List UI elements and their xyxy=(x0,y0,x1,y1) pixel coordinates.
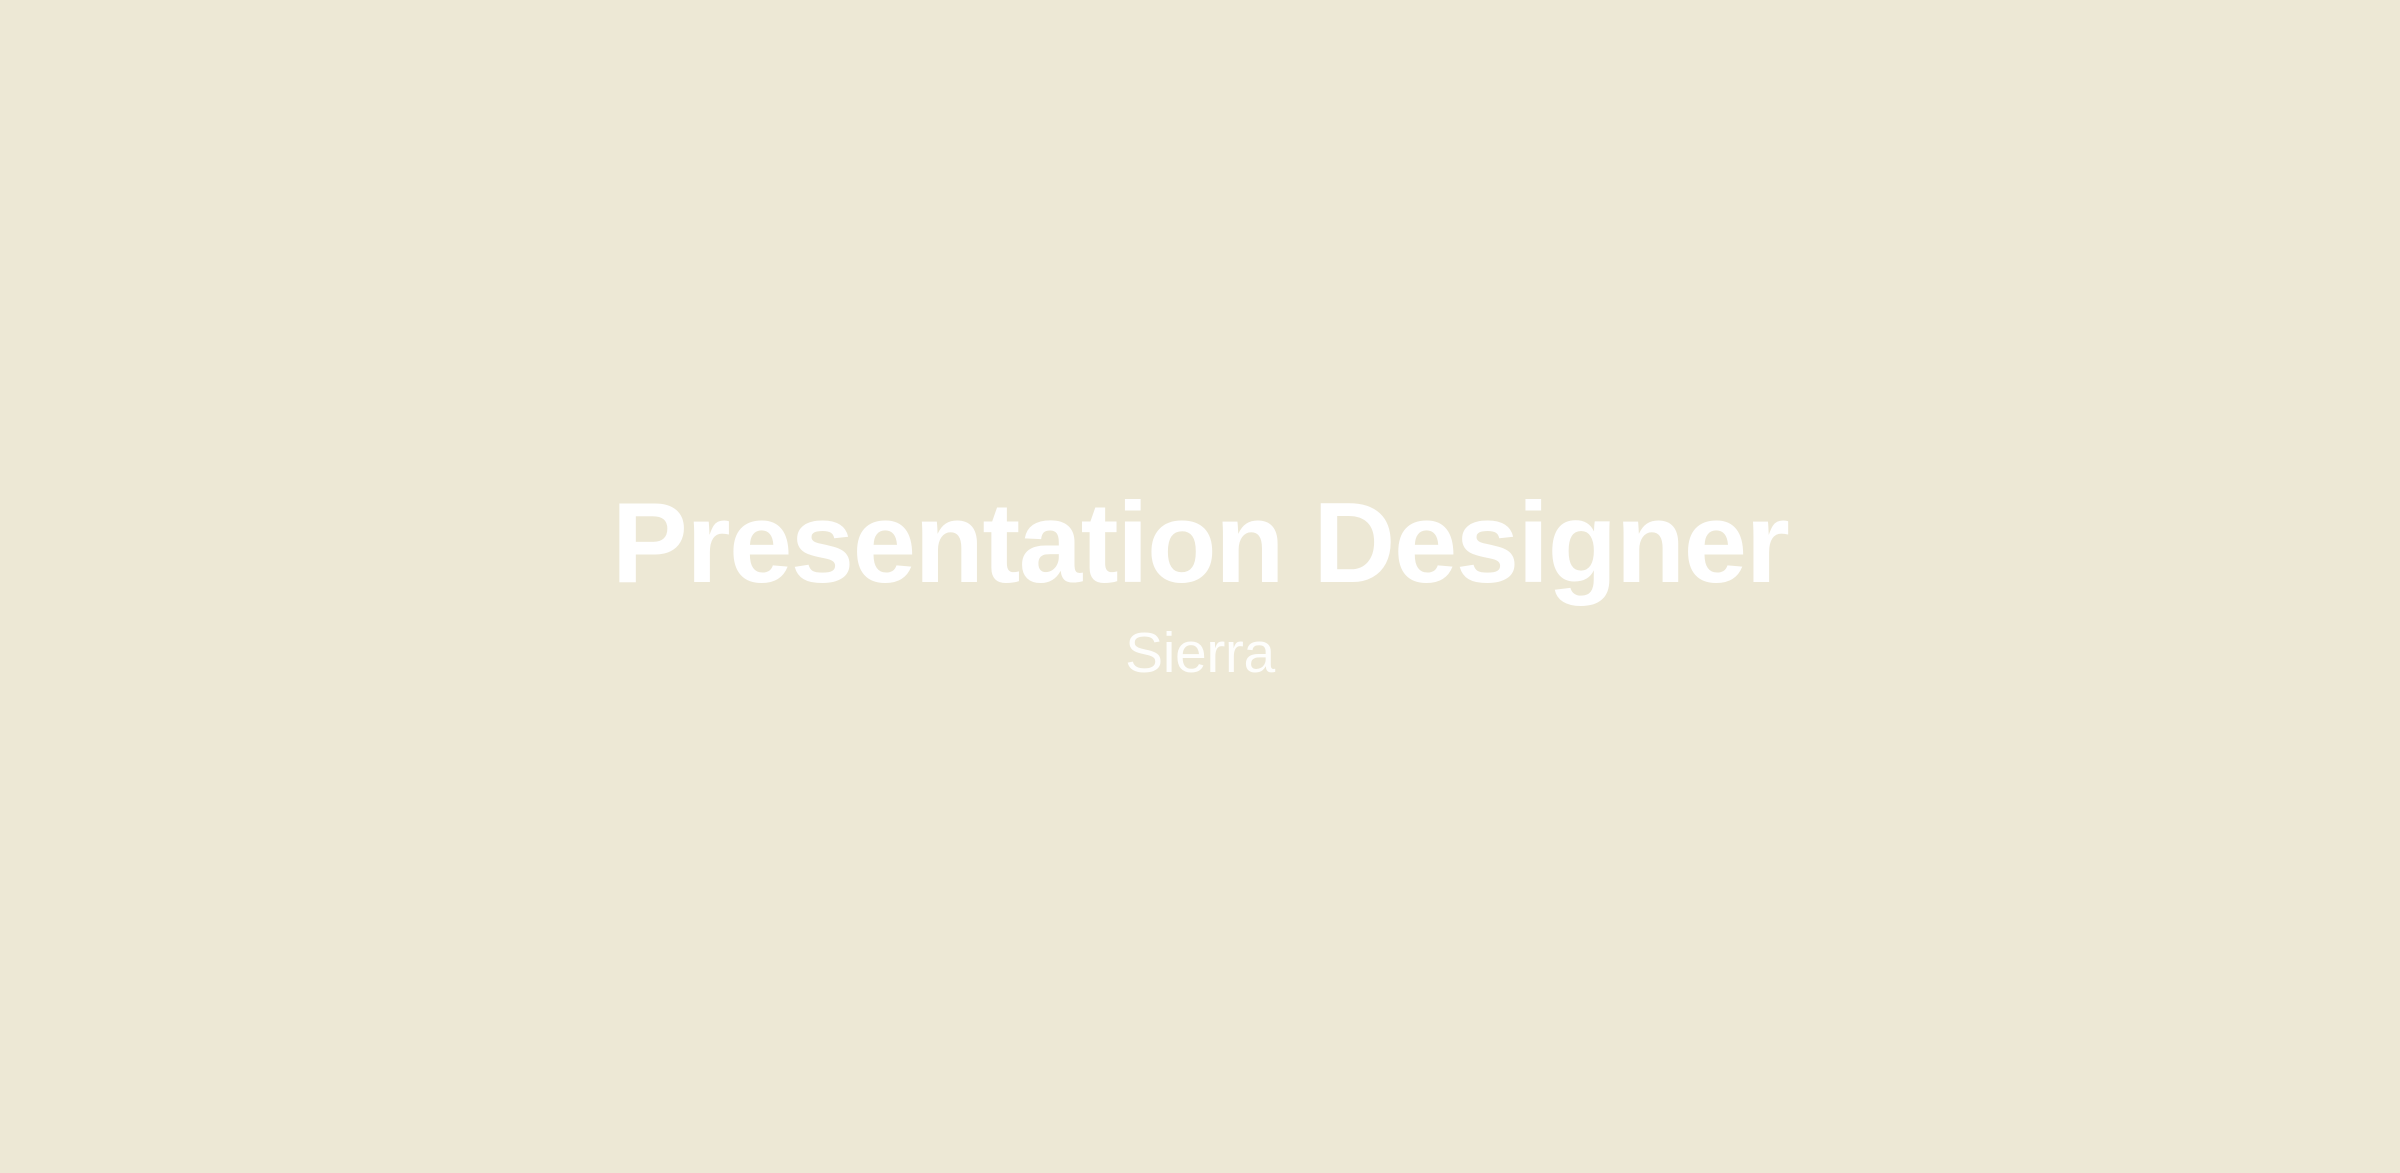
page-title: Presentation Designer xyxy=(612,487,1788,601)
title-slide: Presentation Designer Sierra xyxy=(0,0,2400,1173)
slide-subtitle: Sierra xyxy=(1125,625,1275,682)
title-block: Presentation Designer Sierra xyxy=(0,487,2400,682)
